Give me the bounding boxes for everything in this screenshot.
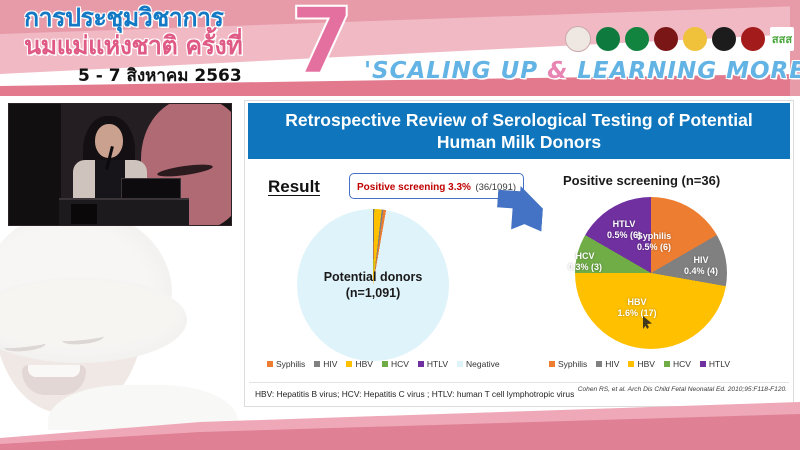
legend-potential-donors: Syphilis HIV HBV HCV HTLV Negative [267, 359, 500, 369]
legend-item-hbv-2: HBV [628, 359, 654, 369]
background-baby-watermark [0, 215, 240, 430]
footnote-text: HBV: Hepatitis B virus; HCV: Hepatitis C… [249, 389, 574, 399]
conference-tagline: 'SCALING UP & LEARNING MORE' [364, 58, 800, 84]
slice-label-htlv-name: HTLV [597, 219, 651, 230]
legend-label-hcv-2: HCV [673, 359, 691, 369]
conference-dates: 5 - 7 สิงหาคม 2563 [78, 62, 242, 89]
slice-label-hiv-value: 0.4% (4) [673, 266, 729, 277]
result-label: Result [268, 177, 320, 197]
slice-label-hiv: HIV 0.4% (4) [673, 255, 729, 277]
tagline-ampersand: & [547, 58, 568, 84]
legend-item-hiv: HIV [314, 359, 337, 369]
legend-item-htlv: HTLV [418, 359, 448, 369]
legend-label-htlv-2: HTLV [709, 359, 730, 369]
legend-label-hbv: HBV [355, 359, 372, 369]
slice-label-hbv: HBV 1.6% (17) [601, 297, 673, 319]
black-circle-logo [712, 27, 736, 51]
presentation-slide: Retrospective Review of Serological Test… [244, 100, 794, 407]
callout-key: Positive screening 3.3% [357, 182, 471, 193]
royal-patronage-logo [565, 26, 591, 52]
legend-label-negative: Negative [466, 359, 500, 369]
legend-label-hbv-2: HBV [637, 359, 654, 369]
crimson-emblem-logo [741, 27, 765, 51]
legend-item-htlv-2: HTLV [700, 359, 730, 369]
tagline-part-1: 'SCALING UP [364, 58, 547, 84]
edition-number: 7 [290, 0, 354, 88]
legend-label-hiv: HIV [323, 359, 337, 369]
legend-label-htlv: HTLV [427, 359, 448, 369]
legend-label-hcv: HCV [391, 359, 409, 369]
legend-item-syphilis: Syphilis [267, 359, 305, 369]
legend-label-syphilis: Syphilis [276, 359, 305, 369]
bottom-pink-band [0, 400, 800, 450]
video-dark-left [9, 104, 61, 225]
slice-label-htlv: HTLV 0.5% (6) [597, 219, 651, 241]
tagline-part-2: LEARNING MORE' [568, 58, 800, 84]
positive-screening-callout: Positive screening 3.3% (36/1091) [349, 173, 524, 199]
legend-label-hiv-2: HIV [605, 359, 619, 369]
legend-label-syphilis-2: Syphilis [558, 359, 587, 369]
sponsor-logo-row: สสส [565, 26, 794, 52]
blue-arrow-icon [496, 184, 545, 231]
slice-label-hbv-name: HBV [601, 297, 673, 308]
potential-donors-n: (n=1,091) [297, 285, 449, 301]
slice-label-hcv-name: HCV [561, 251, 609, 262]
slice-label-htlv-value: 0.5% (6) [597, 230, 651, 241]
green-health-logo-1 [596, 27, 620, 51]
speaker-video-thumbnail[interactable] [8, 103, 232, 226]
legend-item-hiv-2: HIV [596, 359, 619, 369]
slice-label-hcv-value: 0.3% (3) [561, 262, 609, 273]
legend-item-hbv: HBV [346, 359, 372, 369]
legend-item-hcv-2: HCV [664, 359, 691, 369]
potential-donors-title: Potential donors [297, 269, 449, 285]
conference-title-line2: นมแม่แห่งชาติ ครั้งที่ [24, 32, 304, 60]
gold-emblem-logo [683, 27, 707, 51]
red-emblem-logo [654, 27, 678, 51]
slice-label-hiv-name: HIV [673, 255, 729, 266]
screenshot-stage: การประชุมวิชาการ นมแม่แห่งชาติ ครั้งที่ … [0, 0, 800, 450]
legend-item-negative: Negative [457, 359, 500, 369]
slide-title: Retrospective Review of Serological Test… [248, 103, 790, 159]
thaihealth-logo: สสส [770, 27, 794, 51]
positive-screening-chart-title: Positive screening (n=36) [563, 173, 720, 188]
slice-label-hbv-value: 1.6% (17) [601, 308, 673, 319]
conference-header-banner: การประชุมวิชาการ นมแม่แห่งชาติ ครั้งที่ … [0, 0, 800, 96]
legend-item-syphilis-2: Syphilis [549, 359, 587, 369]
podium-front-panel [71, 204, 97, 224]
slice-label-hcv: HCV 0.3% (3) [561, 251, 609, 273]
legend-item-hcv: HCV [382, 359, 409, 369]
legend-positive-screening: Syphilis HIV HBV HCV HTLV [549, 359, 730, 369]
green-health-logo-2 [625, 27, 649, 51]
potential-donors-center-label: Potential donors (n=1,091) [297, 269, 449, 301]
slide-citation: Cohen RS, et al. Arch Dis Child Fetal Ne… [578, 386, 787, 393]
conference-title-line1: การประชุมวิชาการ [24, 4, 304, 32]
conference-title: การประชุมวิชาการ นมแม่แห่งชาติ ครั้งที่ [24, 4, 304, 60]
slice-label-syphilis-value: 0.5% (6) [623, 242, 685, 253]
